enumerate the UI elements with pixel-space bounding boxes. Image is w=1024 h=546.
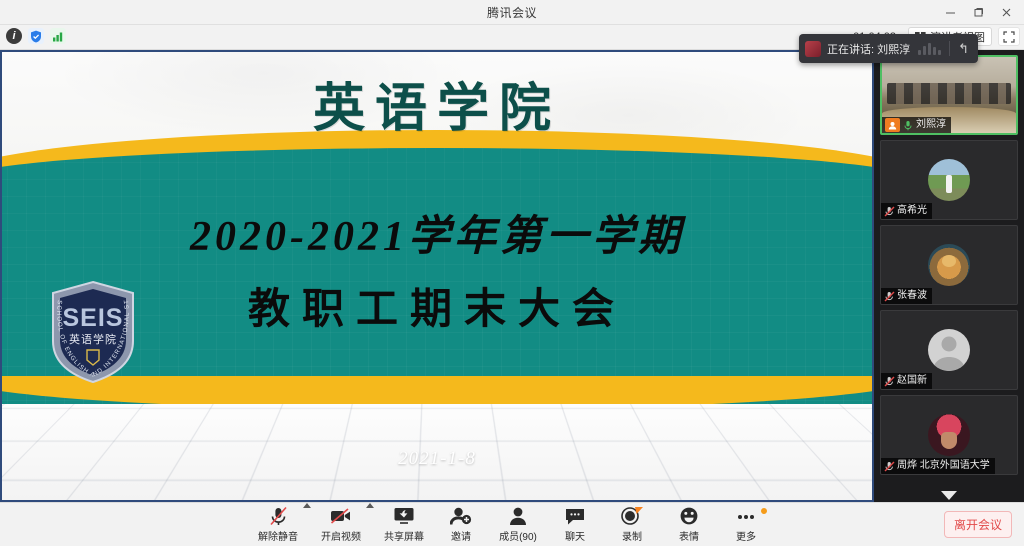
slide-title: 英语学院 [2, 66, 872, 141]
presentation-slide: 英语学院 2020-2021学年第一学期 教职工期末大会 2021-1-8 SE… [0, 50, 874, 502]
start-video-button[interactable]: 开启视频 [313, 504, 370, 546]
more-label: 更多 [736, 528, 756, 543]
participant-namebar: 张春波 [881, 288, 932, 304]
notification-dot-icon [761, 508, 767, 514]
camera-off-icon [330, 506, 352, 526]
shield-icon[interactable] [28, 28, 44, 44]
chat-label: 聊天 [565, 528, 585, 543]
mic-muted-icon [884, 461, 894, 472]
participant-tile[interactable]: 刘熙淳 [880, 55, 1018, 135]
avatar [928, 244, 970, 286]
participant-namebar: 周烨 北京外国语大学 [881, 458, 995, 474]
mic-muted-icon [884, 376, 894, 387]
reply-arrow-icon[interactable]: ↰ [958, 41, 969, 57]
emoji-label: 表情 [679, 528, 699, 543]
toast-divider [949, 41, 950, 56]
speaking-label: 正在讲话: 刘熙淳 [827, 41, 910, 57]
audio-wave-icon [918, 43, 941, 55]
minimize-icon[interactable] [936, 0, 964, 25]
emoji-button[interactable]: 表情 [661, 504, 718, 546]
share-screen-label: 共享屏幕 [384, 528, 424, 543]
participant-name: 高希光 [897, 204, 927, 218]
record-icon [620, 506, 644, 526]
avatar [928, 159, 970, 201]
invite-label: 邀请 [451, 528, 471, 543]
unmute-button[interactable]: 解除静音 [250, 504, 307, 546]
avatar [928, 329, 970, 371]
more-icon [735, 506, 757, 526]
slide-date: 2021-1-8 [2, 448, 872, 470]
slide-line-1: 2020-2021学年第一学期 [2, 202, 872, 263]
close-icon[interactable] [992, 0, 1020, 25]
participant-tile[interactable]: 赵国新 [880, 310, 1018, 390]
share-screen-icon [393, 506, 415, 526]
shared-screen-stage[interactable]: 英语学院 2020-2021学年第一学期 教职工期末大会 2021-1-8 SE… [0, 50, 874, 502]
participant-strip[interactable]: 刘熙淳 高希光 张春波 [874, 50, 1024, 502]
participant-name: 张春波 [897, 289, 927, 303]
chat-icon [564, 506, 586, 526]
signal-icon[interactable] [50, 28, 66, 44]
maximize-icon[interactable] [964, 0, 992, 25]
svg-text:英语学院: 英语学院 [69, 332, 117, 346]
meeting-window: 腾讯会议 i [0, 0, 1024, 546]
invite-button[interactable]: 邀请 [433, 504, 490, 546]
participant-tile[interactable]: 张春波 [880, 225, 1018, 305]
info-icon[interactable]: i [6, 28, 22, 44]
svg-text:SEIS: SEIS [63, 304, 124, 332]
mic-on-icon [903, 120, 913, 131]
chat-button[interactable]: 聊天 [547, 504, 604, 546]
title-bar: 腾讯会议 [0, 0, 1024, 25]
share-screen-button[interactable]: 共享屏幕 [376, 504, 433, 546]
window-title: 腾讯会议 [487, 4, 537, 21]
participants-button[interactable]: 成员(90) [490, 504, 547, 546]
meeting-toolbar: 解除静音 开启视频 共享屏幕 [0, 502, 1024, 546]
emoji-icon [678, 506, 700, 526]
start-video-label: 开启视频 [321, 528, 361, 543]
participant-name: 周烨 北京外国语大学 [897, 459, 990, 473]
window-controls [936, 0, 1020, 25]
unmute-label: 解除静音 [258, 528, 298, 543]
avatar [928, 414, 970, 456]
more-button[interactable]: 更多 [718, 504, 775, 546]
participants-icon [507, 506, 529, 526]
seis-shield-logo: SEIS 英语学院 SCHOOL OF ENGLISH AND INTERNAT… [49, 280, 137, 384]
participant-namebar: 高希光 [881, 203, 932, 219]
participants-label: 成员(90) [499, 528, 537, 543]
participant-name: 赵国新 [897, 374, 927, 388]
mic-muted-icon [884, 206, 894, 217]
scroll-down-arrow-icon[interactable] [941, 491, 957, 500]
status-icon-group: i [6, 28, 66, 44]
host-icon [885, 118, 900, 132]
invite-icon [450, 506, 472, 526]
fullscreen-icon[interactable] [998, 27, 1020, 46]
record-label: 录制 [622, 528, 642, 543]
participant-namebar: 赵国新 [881, 373, 932, 389]
participant-tile[interactable]: 高希光 [880, 140, 1018, 220]
mic-muted-icon [884, 291, 894, 302]
leave-meeting-button[interactable]: 离开会议 [944, 511, 1012, 538]
participant-name: 刘熙淳 [916, 118, 946, 132]
speaking-toast: 正在讲话: 刘熙淳 ↰ [799, 34, 978, 63]
mic-muted-icon [269, 506, 288, 526]
participant-tile[interactable]: 周烨 北京外国语大学 [880, 395, 1018, 475]
record-button[interactable]: 录制 [604, 504, 661, 546]
speaker-avatar [805, 41, 821, 57]
participant-namebar: 刘熙淳 [882, 117, 951, 133]
